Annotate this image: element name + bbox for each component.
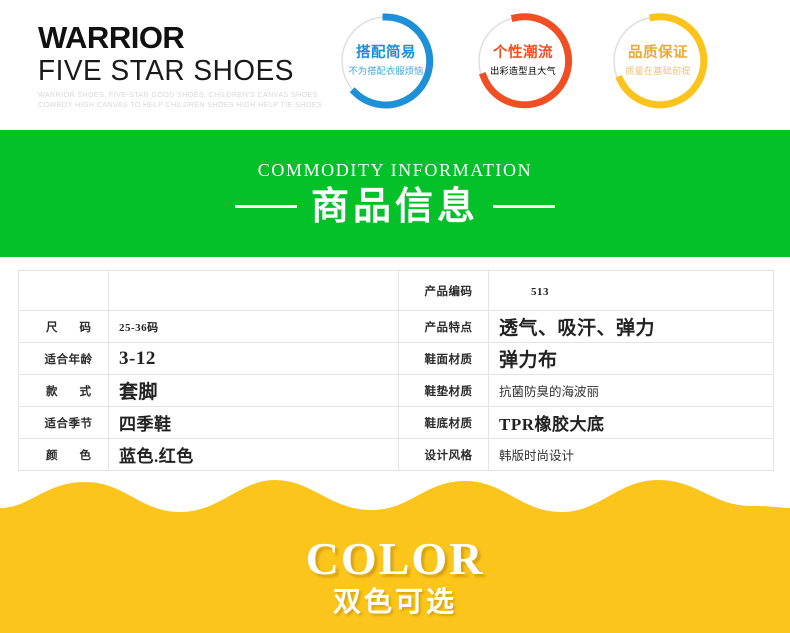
table-row: 适合年龄 3-12 鞋面材质 弹力布 [19, 343, 774, 375]
spec-label-left: 款 式 [19, 375, 109, 407]
spec-value-right-text: 透气、吸汗、弹力 [499, 318, 655, 339]
spec-value-left [109, 271, 399, 311]
spec-label-right: 设计风格 [399, 439, 489, 471]
table-row: 适合季节 四季鞋 鞋底材质 TPR橡胶大底 [19, 407, 774, 439]
spec-value-left-text: 套脚 [119, 382, 158, 403]
banner-english-title: COMMODITY INFORMATION [258, 160, 532, 181]
spec-value-right-text: 韩版时尚设计 [499, 448, 574, 463]
spec-value-left: 25-36码 [109, 311, 399, 343]
feature-badge-3-title: 品质保证 [628, 45, 688, 62]
table-row: 尺 码 25-36码 产品特点 透气、吸汗、弹力 [19, 311, 774, 343]
feature-badge-1-desc: 不为搭配衣服烦恼 [348, 66, 423, 77]
spec-table-body: 产品编码 513 尺 码 25-36码 产品特点 透气、吸汗、弹力 [19, 271, 774, 471]
spec-value-right: 513 [489, 271, 774, 311]
spec-value-right: 透气、吸汗、弹力 [489, 311, 774, 343]
feature-badge-3-desc: 质量在基础前提 [625, 66, 691, 77]
spec-value-left-text: 蓝色.红色 [119, 447, 194, 466]
brand-tagline: WARRIOR SHOES, FIVE-STAR GOOD SHOES, CHI… [38, 90, 308, 111]
wave-divider-icon [0, 468, 790, 528]
spec-value-left: 套脚 [109, 375, 399, 407]
table-row: 颜 色 蓝色.红色 设计风格 韩版时尚设计 [19, 439, 774, 471]
table-row: 款 式 套脚 鞋垫材质 抗菌防臭的海波丽 [19, 375, 774, 407]
spec-value-left: 蓝色.红色 [109, 439, 399, 471]
commodity-information-banner: COMMODITY INFORMATION 商品信息 [0, 130, 790, 257]
spec-value-left-text: 3-12 [119, 348, 156, 369]
banner-rule-right [493, 205, 555, 208]
brand-subtitle: FIVE STAR SHOES [38, 54, 308, 86]
feature-badges: 搭配简易 不为搭配衣服烦恼 个性潮流 出彩造型且大气 [333, 8, 783, 120]
spec-value-right-text: 抗菌防臭的海波丽 [499, 384, 599, 399]
spec-label-left: 适合季节 [19, 407, 109, 439]
feature-badge-2: 个性潮流 出彩造型且大气 [470, 8, 576, 114]
spec-value-right-text: 弹力布 [499, 350, 558, 371]
feature-badge-2-title: 个性潮流 [493, 45, 553, 62]
spec-label-right: 鞋底材质 [399, 407, 489, 439]
feature-badge-1-title: 搭配简易 [356, 45, 416, 62]
spec-table: 产品编码 513 尺 码 25-36码 产品特点 透气、吸汗、弹力 [18, 270, 774, 471]
banner-rule-left [235, 205, 297, 208]
feature-badge-3: 品质保证 质量在基础前提 [605, 8, 711, 114]
spec-label-left: 适合年龄 [19, 343, 109, 375]
feature-badge-3-text: 品质保证 质量在基础前提 [605, 8, 711, 114]
spec-label-left: 颜 色 [19, 439, 109, 471]
brand-tagline-line-1: WARRIOR SHOES, FIVE-STAR GOOD SHOES, CHI… [38, 90, 308, 100]
spec-value-right: 抗菌防臭的海波丽 [489, 375, 774, 407]
spec-value-left: 四季鞋 [109, 407, 399, 439]
spec-label-right: 产品特点 [399, 311, 489, 343]
brand-name: WARRIOR [38, 22, 308, 55]
spec-label-right: 鞋垫材质 [399, 375, 489, 407]
spec-value-right: TPR橡胶大底 [489, 407, 774, 439]
color-section: COLOR 双色可选 [0, 468, 790, 633]
feature-badge-2-text: 个性潮流 出彩造型且大气 [470, 8, 576, 114]
feature-badge-2-desc: 出彩造型且大气 [490, 66, 556, 77]
color-chinese-title: 双色可选 [333, 587, 457, 616]
color-english-title: COLOR [306, 536, 485, 583]
spec-label-left [19, 271, 109, 311]
feature-badge-1-text: 搭配简易 不为搭配衣服烦恼 [333, 8, 439, 114]
spec-value-left: 3-12 [109, 343, 399, 375]
spec-value-left-text: 四季鞋 [119, 415, 172, 434]
banner-title-row: 商品信息 [235, 187, 555, 227]
page-header: WARRIOR FIVE STAR SHOES WARRIOR SHOES, F… [0, 0, 790, 130]
banner-chinese-title: 商品信息 [311, 187, 479, 227]
spec-label-right: 产品编码 [399, 271, 489, 311]
product-detail-page: WARRIOR FIVE STAR SHOES WARRIOR SHOES, F… [0, 0, 790, 633]
brand-tagline-line-2: COWBOY HIGH CANVAS TO HELP CHILDREN SHOE… [38, 100, 308, 110]
spec-label-right: 鞋面材质 [399, 343, 489, 375]
brand-block: WARRIOR FIVE STAR SHOES WARRIOR SHOES, F… [38, 22, 308, 111]
spec-value-right: 韩版时尚设计 [489, 439, 774, 471]
spec-label-left: 尺 码 [19, 311, 109, 343]
spec-value-left-text: 25-36码 [119, 322, 159, 334]
spec-value-right: 弹力布 [489, 343, 774, 375]
spec-value-right-text: TPR橡胶大底 [499, 415, 605, 434]
color-section-content: COLOR 双色可选 [0, 520, 790, 633]
table-row: 产品编码 513 [19, 271, 774, 311]
feature-badge-1: 搭配简易 不为搭配衣服烦恼 [333, 8, 439, 114]
spec-value-right-text: 513 [499, 286, 549, 298]
spec-table-wrapper: 产品编码 513 尺 码 25-36码 产品特点 透气、吸汗、弹力 [18, 270, 773, 471]
